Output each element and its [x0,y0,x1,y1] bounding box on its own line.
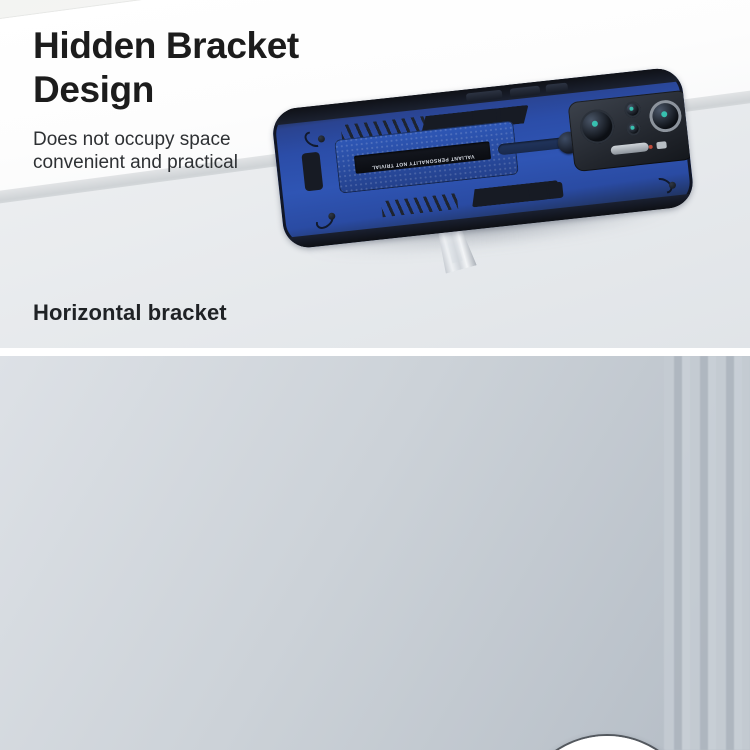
panel-divider [0,348,750,356]
page-subtitle: Does not occupy space convenient and pra… [33,128,333,174]
page-title-line-2: Design [33,69,154,110]
case-armor-plate-bottom-3 [548,182,564,199]
bottom-panel-vertical-bracket: VALIANT PERSONALITY NOT TRIVIAL [0,356,750,750]
page-subtitle-line-2: convenient and practical [33,152,238,173]
background-wall [0,356,750,750]
caption-horizontal-bracket: Horizontal bracket [33,300,227,326]
page-title-line-1: Hidden Bracket [33,25,299,66]
background-curtain [664,356,750,750]
case-screw-dot-2 [328,212,336,220]
top-panel-horizontal-bracket: VALIANT PERSONALITY NOT TRIVIAL [0,0,750,348]
case-vent-stripes-bottom [381,193,458,217]
case-armor-plate-bottom-2 [528,182,548,201]
page-subtitle-line-1: Does not occupy space [33,129,231,150]
magnifier-callout-90-degrees: 90° [515,734,699,750]
product-infographic: VALIANT PERSONALITY NOT TRIVIAL [0,0,750,750]
case-screw-dot-3 [669,181,677,189]
camera-sensor-block [656,141,667,149]
angle-rotation-arrow-icon [517,736,699,750]
page-title: Hidden Bracket Design [33,24,453,112]
